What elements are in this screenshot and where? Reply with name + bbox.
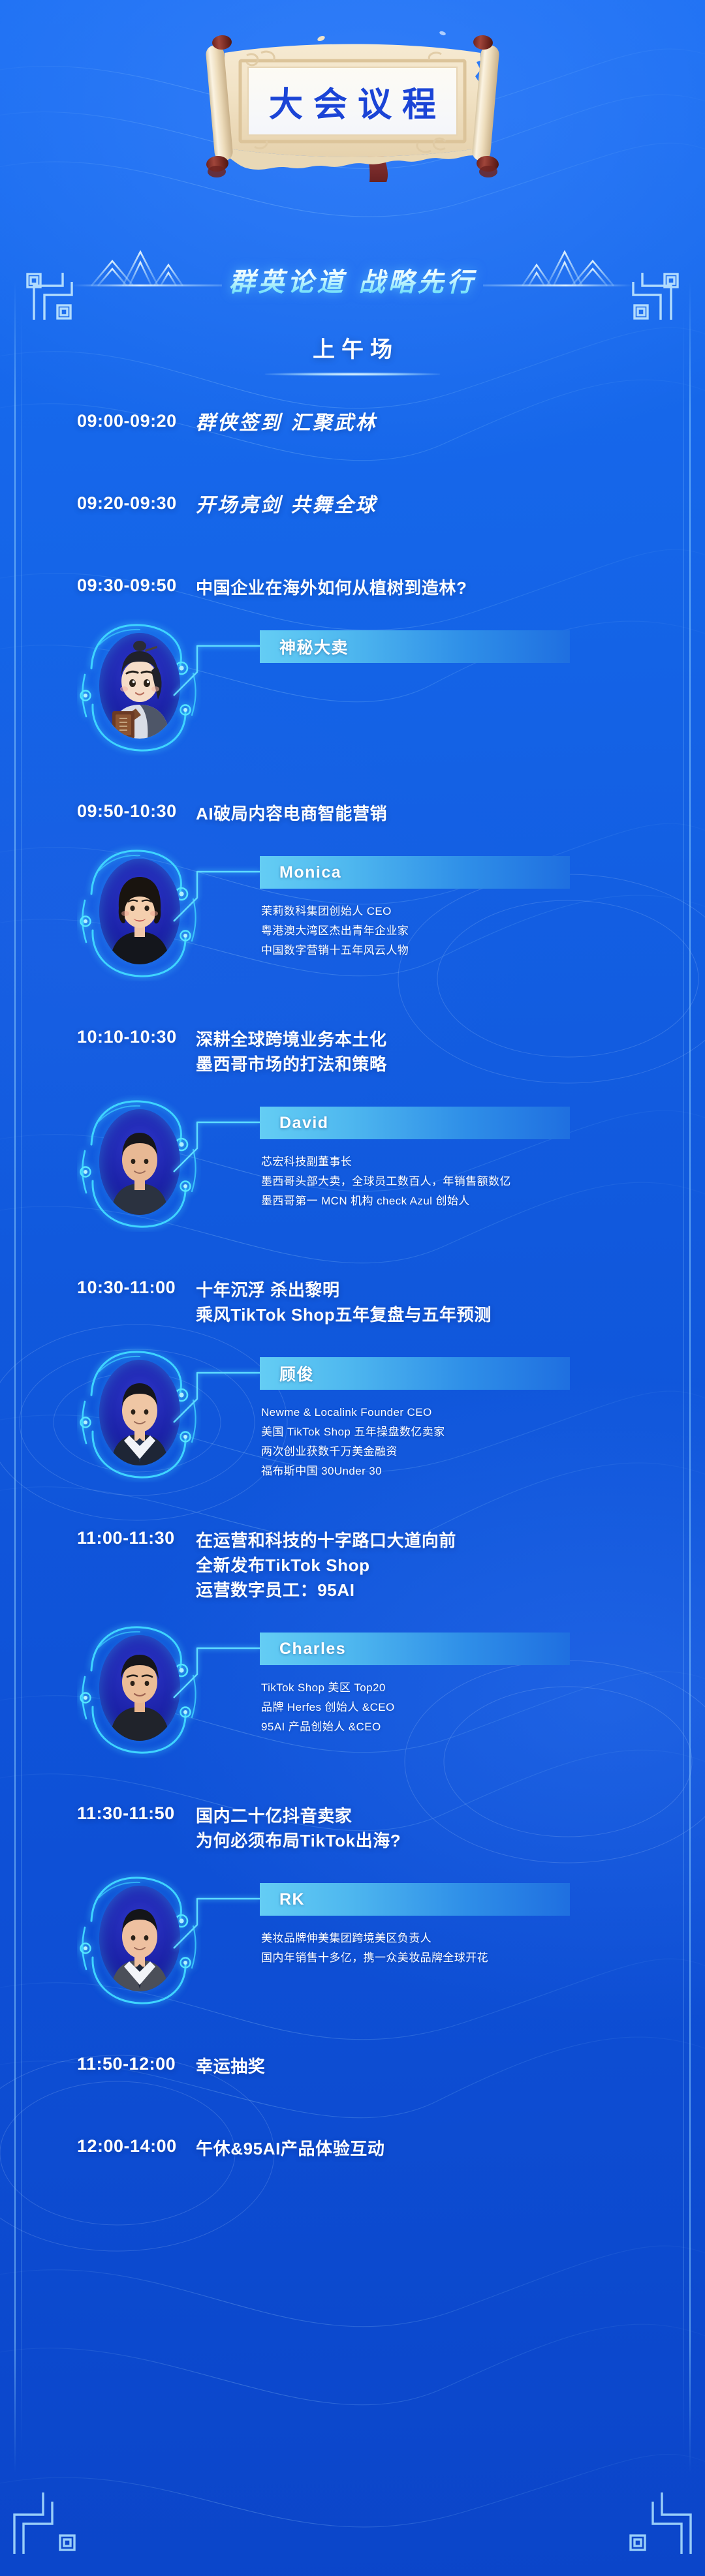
speaker-connector-line-icon [168,853,266,932]
speaker-name: 神秘大卖 [260,635,349,658]
speaker-card: CharlesTikTok Shop 美区 Top20品牌 Herfes 创始人… [0,1621,705,1621]
frame-line-right-inner [683,307,684,2453]
agenda-title-line: 国内二十亿抖音卖家 [196,1803,666,1828]
agenda-title: 十年沉浮 杀出黎明乘风TikTok Shop五年复盘与五年预测 [196,1278,705,1327]
agenda-row: 09:50-10:30AI破局内容电商智能营销 [0,801,705,826]
agenda-title: 午休&95AI产品体验互动 [196,2136,705,2161]
agenda-row: 09:20-09:30开场亮剑 共舞全球 [0,493,705,518]
agenda-time: 10:10-10:30 [0,1027,196,1047]
agenda-title: 中国企业在海外如何从植树到造林? [196,575,705,600]
speaker-name-badge: 顾俊 [260,1357,570,1390]
speaker-name: Monica [260,863,341,882]
speaker-name: Charles [260,1640,346,1659]
corner-ornament-bottom-left [9,2487,81,2559]
agenda-row: 12:00-14:00午休&95AI产品体验互动 [0,2136,705,2161]
agenda-time: 10:30-11:00 [0,1278,196,1298]
speaker-connector-line-icon [168,1355,266,1433]
agenda-title-line: 深耕全球跨境业务本土化 [196,1027,666,1052]
agenda-title-line: 幸运抽奖 [196,2054,666,2079]
speaker-name-badge: 神秘大卖 [260,630,570,663]
agenda-title-line: 运营数字员工：95AI [196,1578,666,1602]
speaker-name: 顾俊 [260,1362,314,1385]
agenda-time: 09:50-10:30 [0,801,196,821]
agenda-row: 11:00-11:30在运营和科技的十字路口大道向前全新发布TikTok Sho… [0,1528,705,1602]
frame-line-left-inner [21,307,22,2453]
agenda-row: 10:10-10:30深耕全球跨境业务本土化墨西哥市场的打法和策略 [0,1027,705,1077]
agenda-title-line: 乘风TikTok Shop五年复盘与五年预测 [196,1302,666,1327]
agenda-title-line: 全新发布TikTok Shop [196,1553,666,1578]
speaker-bio-line: TikTok Shop 美区 Top20 [261,1678,653,1698]
speaker-bio: 美妆品牌伸美集团跨境美区负责人国内年销售十多亿，携一众美妆品牌全球开花 [261,1929,653,1968]
agenda-time: 09:30-09:50 [0,575,196,596]
agenda-title: 群侠签到 汇聚武林 [196,411,705,436]
agenda-title: AI破局内容电商智能营销 [196,801,705,826]
agenda-title-line: 墨西哥市场的打法和策略 [196,1052,666,1077]
speaker-name-badge: Charles [260,1633,570,1665]
agenda-title-line: 开场亮剑 共舞全球 [196,493,666,518]
speaker-name: RK [260,1890,305,1909]
speaker-bio-line: 福布斯中国 30Under 30 [261,1462,653,1481]
speaker-bio: 芯宏科技副董事长墨西哥头部大卖，全球员工数百人，年销售额数亿墨西哥第一 MCN … [261,1152,653,1211]
subtitle: 群英论道 战略先行 [0,261,705,299]
speaker-card: 顾俊Newme & Localink Founder CEO美国 TikTok … [0,1345,705,1346]
speaker-bio: 茉莉数科集团创始人 CEO粤港澳大湾区杰出青年企业家中国数字营销十五年风云人物 [261,902,653,960]
speaker-bio-line: 美妆品牌伸美集团跨境美区负责人 [261,1929,653,1948]
agenda-row: 11:50-12:00幸运抽奖 [0,2054,705,2079]
agenda-title-line: 在运营和科技的十字路口大道向前 [196,1528,666,1553]
speaker-bio-line: 品牌 Herfes 创始人 &CEO [261,1698,653,1717]
agenda-title-line: 中国企业在海外如何从植树到造林? [196,575,666,600]
session-title-underline [265,373,440,376]
speaker-name: David [260,1114,329,1133]
speaker-connector-line-icon [168,1104,266,1182]
agenda-title: 国内二十亿抖音卖家为何必须布局TikTok出海? [196,1803,705,1853]
speaker-bio-line: 茉莉数科集团创始人 CEO [261,902,653,921]
speaker-bio: TikTok Shop 美区 Top20品牌 Herfes 创始人 &CEO95… [261,1678,653,1737]
agenda-time: 11:50-12:00 [0,2054,196,2074]
speaker-card: David芯宏科技副董事长墨西哥头部大卖，全球员工数百人，年销售额数亿墨西哥第一… [0,1095,705,1096]
agenda-title: 开场亮剑 共舞全球 [196,493,705,518]
agenda-title-line: 午休&95AI产品体验互动 [196,2136,666,2161]
speaker-connector-line-icon [168,1880,266,1959]
session-header: 上午场 [0,331,705,376]
speaker-bio-line: 两次创业获数千万美金融资 [261,1442,653,1462]
speaker-bio-line: 国内年销售十多亿，携一众美妆品牌全球开花 [261,1948,653,1968]
speaker-bio-line: 墨西哥头部大卖，全球员工数百人，年销售额数亿 [261,1172,653,1191]
agenda-title: 深耕全球跨境业务本土化墨西哥市场的打法和策略 [196,1027,705,1077]
agenda-row: 09:00-09:20群侠签到 汇聚武林 [0,411,705,436]
agenda-title-line: 十年沉浮 杀出黎明 [196,1278,666,1302]
agenda-title: 幸运抽奖 [196,2054,705,2079]
speaker-bio-line: 95AI 产品创始人 &CEO [261,1717,653,1737]
speaker-name-badge: Monica [260,856,570,889]
agenda-row: 10:30-11:00十年沉浮 杀出黎明乘风TikTok Shop五年复盘与五年… [0,1278,705,1327]
agenda-title-line: 为何必须布局TikTok出海? [196,1828,666,1853]
agenda-title: 在运营和科技的十字路口大道向前全新发布TikTok Shop运营数字员工：95A… [196,1528,705,1602]
speaker-name-badge: David [260,1107,570,1139]
agenda-time: 12:00-14:00 [0,2136,196,2156]
speaker-connector-line-icon [168,628,266,706]
page-title: 大会议程 [0,77,705,126]
agenda-time: 11:30-11:50 [0,1803,196,1824]
speaker-card: Monica茉莉数科集团创始人 CEO粤港澳大湾区杰出青年企业家中国数字营销十五… [0,844,705,845]
speaker-bio-line: Newme & Localink Founder CEO [261,1403,653,1422]
speaker-card: RK美妆品牌伸美集团跨境美区负责人国内年销售十多亿，携一众美妆品牌全球开花 [0,1871,705,1872]
speaker-bio-line: 中国数字营销十五年风云人物 [261,941,653,960]
speaker-bio-line: 美国 TikTok Shop 五年操盘数亿卖家 [261,1422,653,1442]
speaker-connector-line-icon [168,1630,266,1708]
agenda-title-line: 群侠签到 汇聚武林 [196,411,666,436]
speaker-bio-line: 粤港澳大湾区杰出青年企业家 [261,921,653,941]
speaker-bio-line: 芯宏科技副董事长 [261,1152,653,1172]
agenda-time: 11:00-11:30 [0,1528,196,1548]
agenda-time: 09:00-09:20 [0,411,196,431]
speaker-name-badge: RK [260,1883,570,1916]
corner-ornament-bottom-right [624,2487,696,2559]
agenda-row: 09:30-09:50中国企业在海外如何从植树到造林? [0,575,705,600]
agenda-title-line: AI破局内容电商智能营销 [196,801,666,826]
session-title: 上午场 [0,331,705,363]
speaker-bio: Newme & Localink Founder CEO美国 TikTok Sh… [261,1403,653,1481]
speaker-bio-line: 墨西哥第一 MCN 机构 check Azul 创始人 [261,1191,653,1211]
speaker-card: 神秘大卖 [0,619,705,619]
agenda-row: 11:30-11:50国内二十亿抖音卖家为何必须布局TikTok出海? [0,1803,705,1853]
agenda-time: 09:20-09:30 [0,493,196,514]
subtitle-band: 群英论道 战略先行 [0,243,705,325]
